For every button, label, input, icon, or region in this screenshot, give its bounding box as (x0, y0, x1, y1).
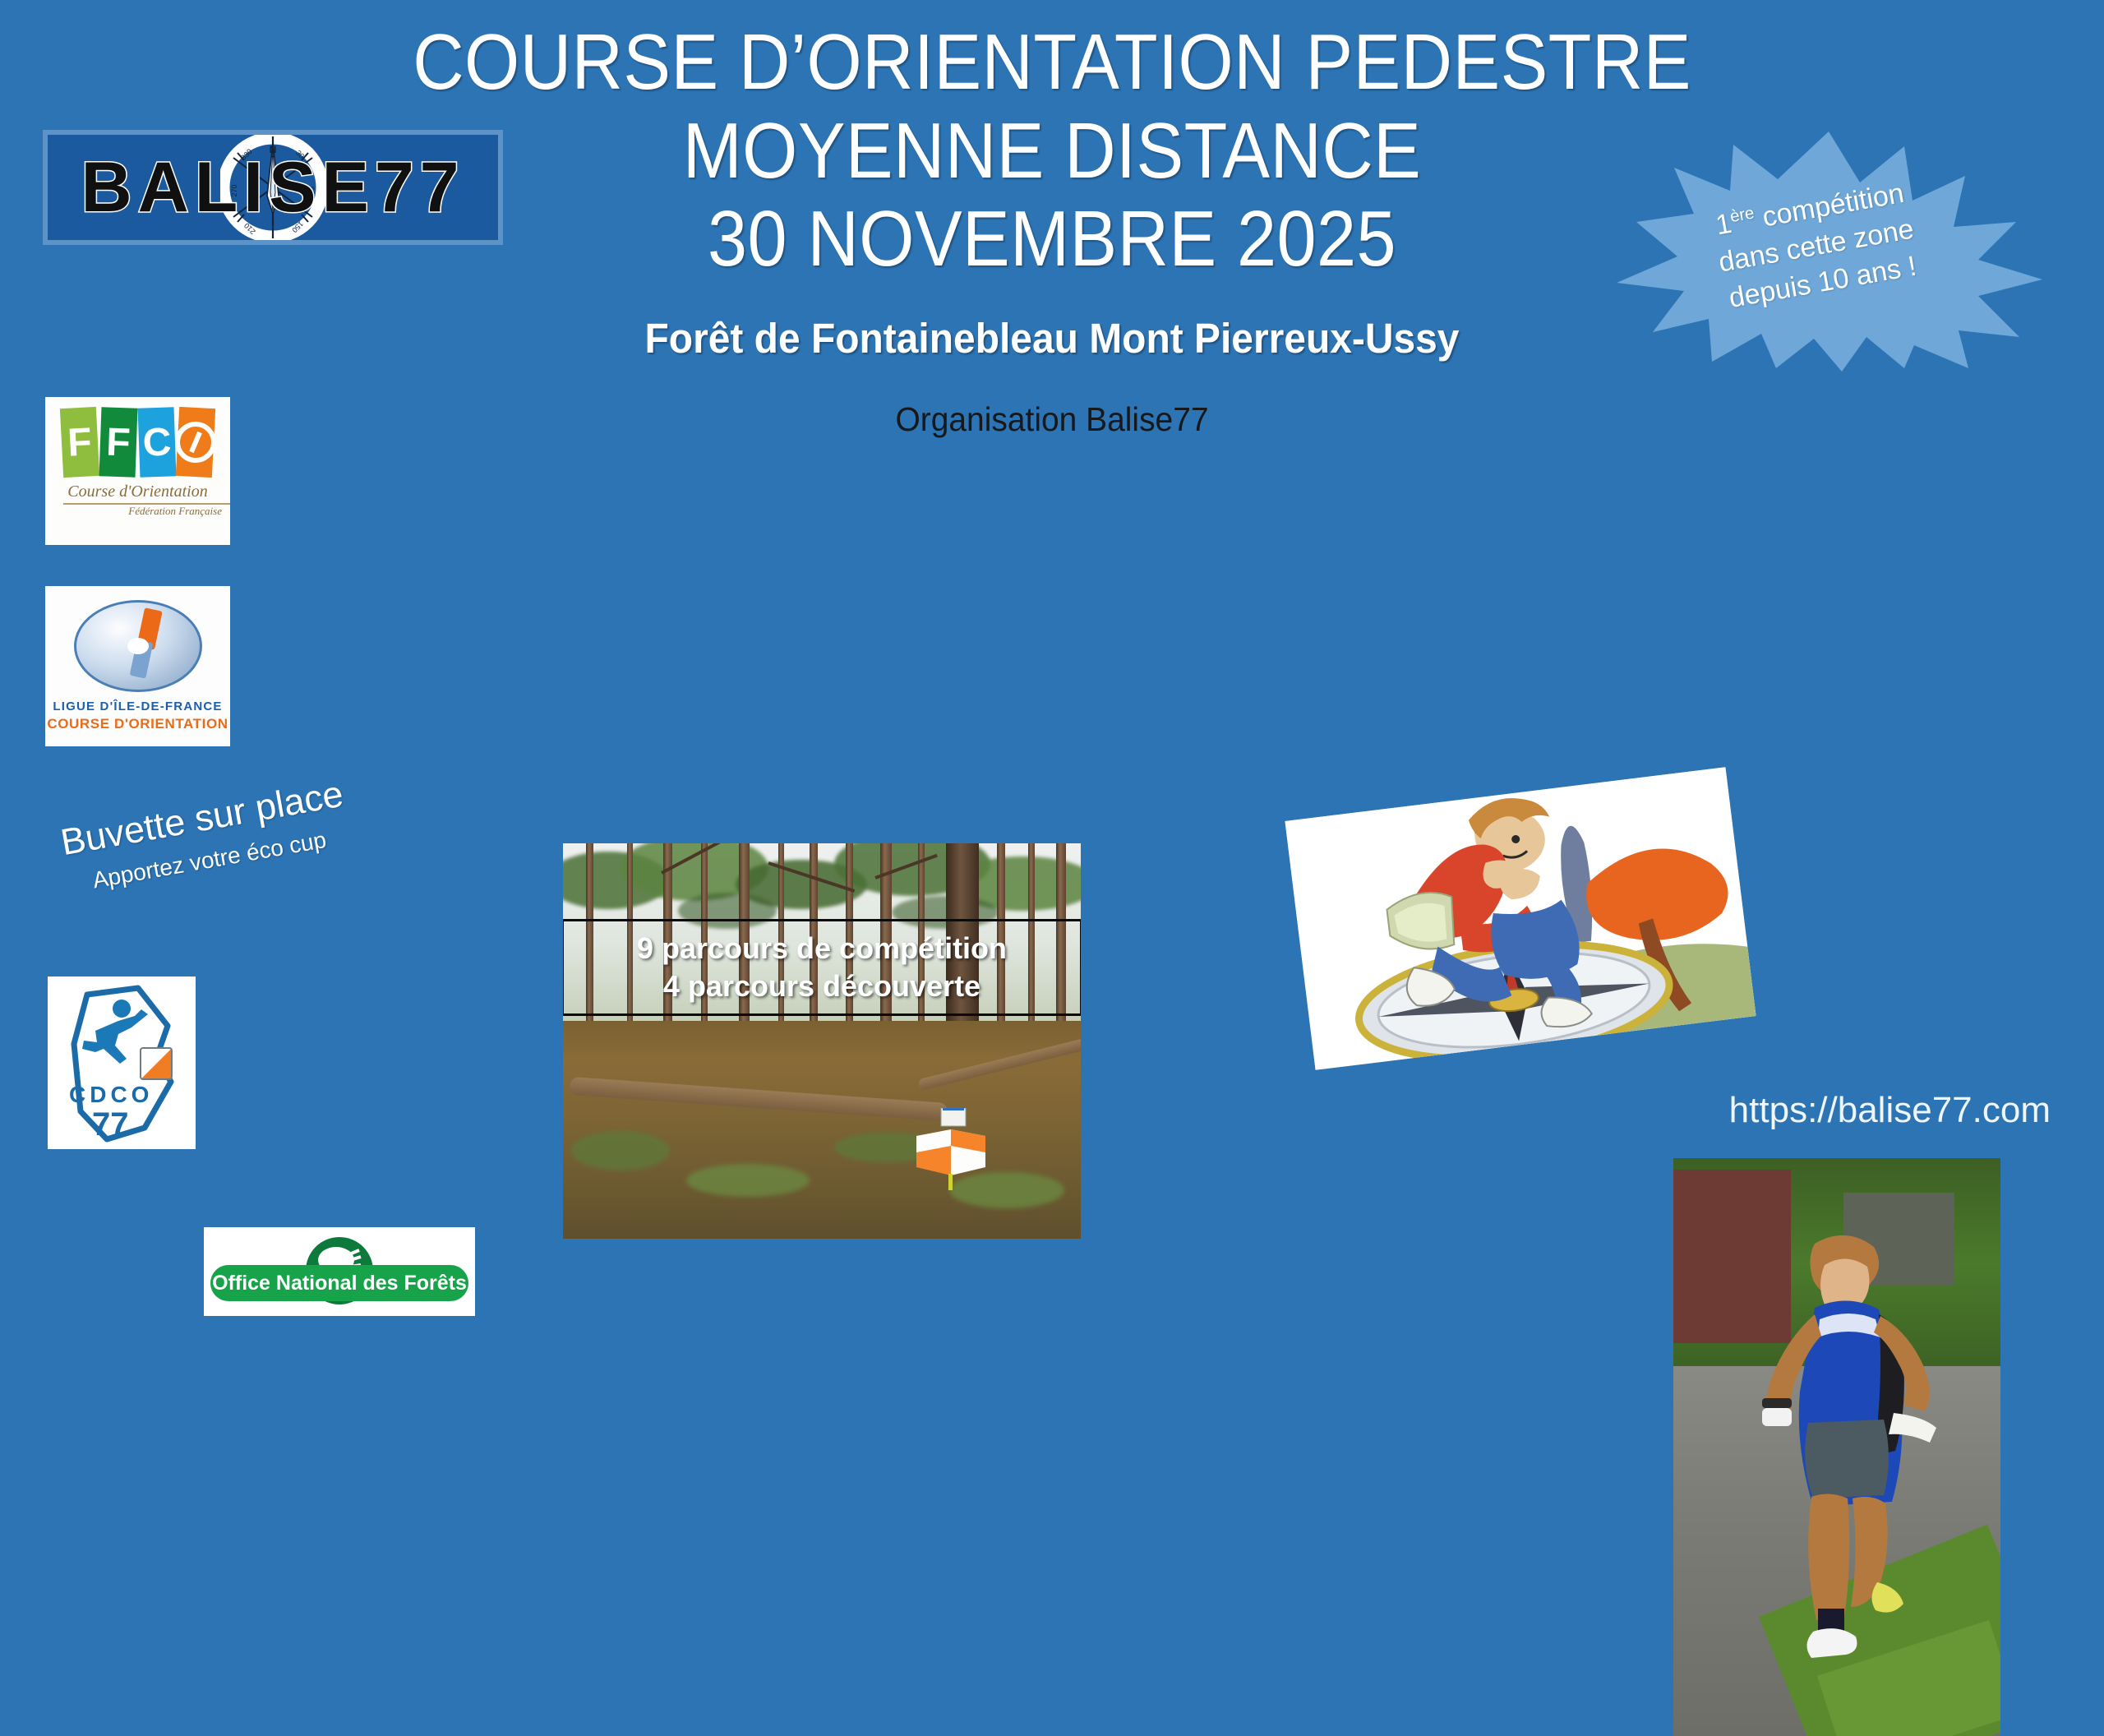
balise77-logo-text: BALISE77 (48, 135, 498, 240)
ffco-partner-logo[interactable]: F F C Course d'Orientation Fédération Fr… (45, 397, 230, 545)
organisation-line: Organisation Balise77 (53, 400, 2051, 439)
balise77-logo-panel: N 330 30 90 150 210 270 BALISE77 (48, 135, 498, 240)
courses-line-1: 9 parcours de compétition (637, 930, 1007, 967)
onf-partner-logo[interactable]: Office National des Forêts (204, 1227, 475, 1316)
ffco-tagline-2: Fédération Française (63, 503, 230, 518)
onf-label: Office National des Forêts (212, 1272, 467, 1295)
ffco-tagline-1: Course d'Orientation (45, 482, 230, 501)
poster-canvas: COURSE D’ORIENTATION PEDESTRE MOYENNE DI… (0, 0, 2104, 1184)
cdco-label: CDCO (69, 1082, 153, 1108)
title-line-1: COURSE D’ORIENTATION PEDESTRE (105, 18, 1999, 107)
cdco-number: 77 (92, 1106, 129, 1143)
runner-figure (1733, 1222, 1954, 1715)
control-flag-icon (140, 1047, 173, 1080)
compass-dial-icon (74, 600, 202, 692)
ffco-tile-f1: F (60, 407, 99, 478)
courses-overlay-box: 9 parcours de compétition 4 parcours déc… (563, 919, 1081, 1016)
ffco-letter-tiles: F F C (45, 397, 230, 476)
ffco-tile-c: C (138, 407, 177, 477)
forest-photo: 9 parcours de compétition 4 parcours déc… (563, 843, 1081, 1239)
ffco-tile-f2: F (99, 407, 138, 477)
ligue-line-1: LIGUE D'ÎLE-DE-FRANCE (53, 699, 222, 713)
cdco77-partner-logo[interactable]: CDCO 77 (48, 976, 196, 1149)
control-flag-icon (911, 1108, 990, 1190)
ligue-line-2: COURSE D'ORIENTATION (47, 716, 228, 732)
compass-hub (127, 638, 149, 654)
balise77-club-logo[interactable]: N 330 30 90 150 210 270 BALISE77 (43, 130, 503, 245)
buvette-note: Buvette sur place Apportez votre éco cup (58, 754, 459, 898)
runner-photo (1673, 1158, 2000, 1736)
ffco-tile-o (176, 407, 215, 478)
onf-label-pill: Office National des Forêts (210, 1265, 468, 1301)
courses-line-2: 4 parcours découverte (663, 967, 980, 1005)
cartoon-illustration-card (1285, 767, 1756, 1070)
ligue-idf-partner-logo[interactable]: LIGUE D'ÎLE-DE-FRANCE COURSE D'ORIENTATI… (45, 586, 230, 746)
cartoon-runner-on-compass (1285, 767, 1756, 1070)
